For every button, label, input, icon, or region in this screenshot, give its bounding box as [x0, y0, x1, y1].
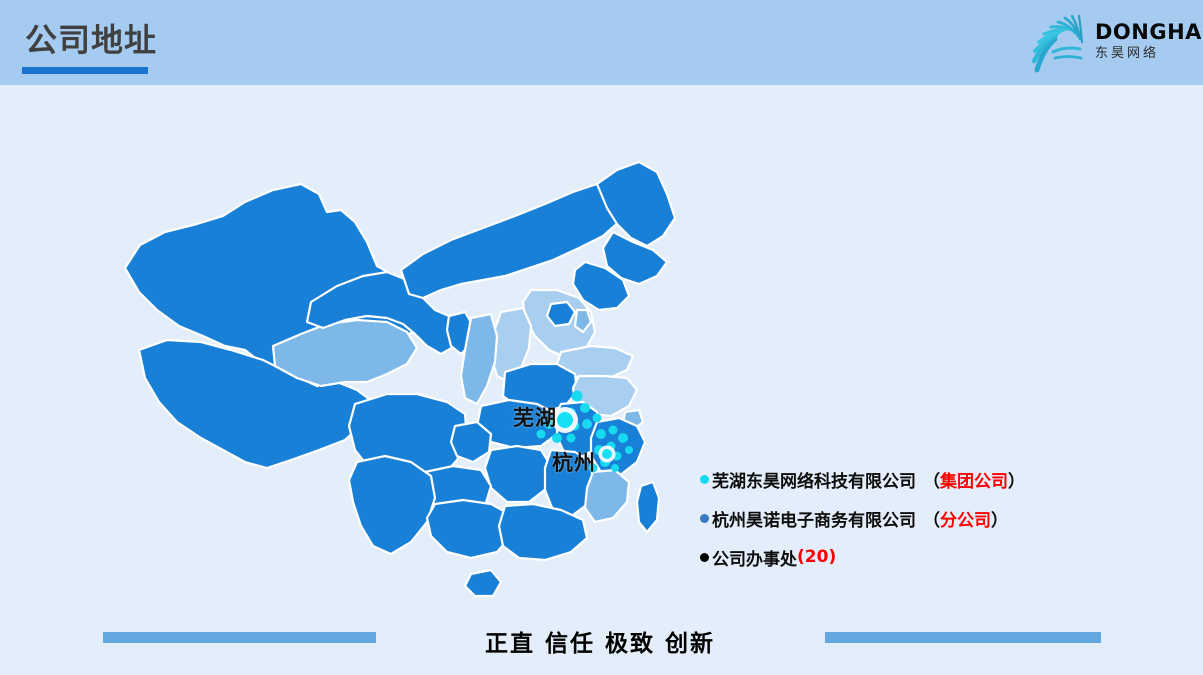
legend-tag-open: (	[797, 547, 805, 567]
province-guangxi	[427, 500, 511, 558]
legend-tag: （集团公司）	[923, 467, 1025, 492]
legend-label: 杭州昊诺电子商务有限公司	[712, 506, 916, 531]
province-heilongjiang	[597, 162, 675, 246]
legend-bullet-icon	[700, 475, 709, 484]
province-hunan	[485, 446, 551, 502]
title-underline	[22, 67, 148, 74]
legend-tag-close: )	[828, 547, 836, 567]
province-chongqing	[451, 422, 491, 462]
legend-bullet-icon	[700, 514, 709, 523]
legend-tag-close: ）	[1008, 472, 1025, 492]
branch-marker-hangzhou	[599, 446, 616, 463]
province-beijing	[547, 302, 575, 326]
legend-label: 公司办事处	[712, 545, 797, 570]
legend-item-branch-company: 杭州昊诺电子商务有限公司 （分公司）	[700, 501, 1120, 535]
legend-tag-text: 集团公司	[940, 472, 1008, 492]
legend: 芜湖东昊网络科技有限公司 （集团公司） 杭州昊诺电子商务有限公司 （分公司） 公…	[700, 462, 1120, 579]
logo-text-block: DONGHAO 东昊网络	[1095, 20, 1195, 63]
legend-tag-close: ）	[991, 511, 1008, 531]
footer-bar-right	[825, 632, 1101, 643]
legend-bullet-icon	[700, 553, 709, 562]
footer-slogan: 正直 信任 极致 创新	[455, 624, 745, 658]
city-label-hangzhou: 杭州	[552, 447, 596, 477]
legend-tag-text: 分公司	[940, 511, 991, 531]
china-map: 芜湖 杭州	[105, 150, 705, 620]
province-fujian	[585, 470, 629, 522]
feather-wing-icon	[1025, 8, 1095, 76]
footer-bar-left	[103, 632, 376, 643]
legend-label: 芜湖东昊网络科技有限公司	[712, 467, 916, 492]
legend-tag: （分公司）	[923, 506, 1008, 531]
company-logo: DONGHAO 东昊网络	[1017, 6, 1195, 78]
slide-canvas: 公司地址	[0, 0, 1203, 675]
city-label-wuhu: 芜湖	[513, 402, 557, 432]
legend-tag-open: （	[923, 511, 940, 531]
legend-item-offices: 公司办事处(20)	[700, 540, 1120, 574]
logo-name: DONGHAO	[1095, 20, 1195, 44]
legend-tag-open: （	[923, 472, 940, 492]
legend-tag-text: 20	[805, 547, 829, 567]
province-yunnan	[349, 456, 435, 554]
china-map-svg	[105, 150, 705, 620]
slide-header: 公司地址	[0, 0, 1203, 85]
legend-tag: (20)	[797, 547, 836, 567]
legend-item-group-company: 芜湖东昊网络科技有限公司 （集团公司）	[700, 462, 1120, 496]
page-title: 公司地址	[25, 20, 157, 60]
logo-subtitle: 东昊网络	[1095, 45, 1195, 63]
province-hainan	[465, 570, 501, 596]
province-taiwan	[637, 482, 659, 532]
